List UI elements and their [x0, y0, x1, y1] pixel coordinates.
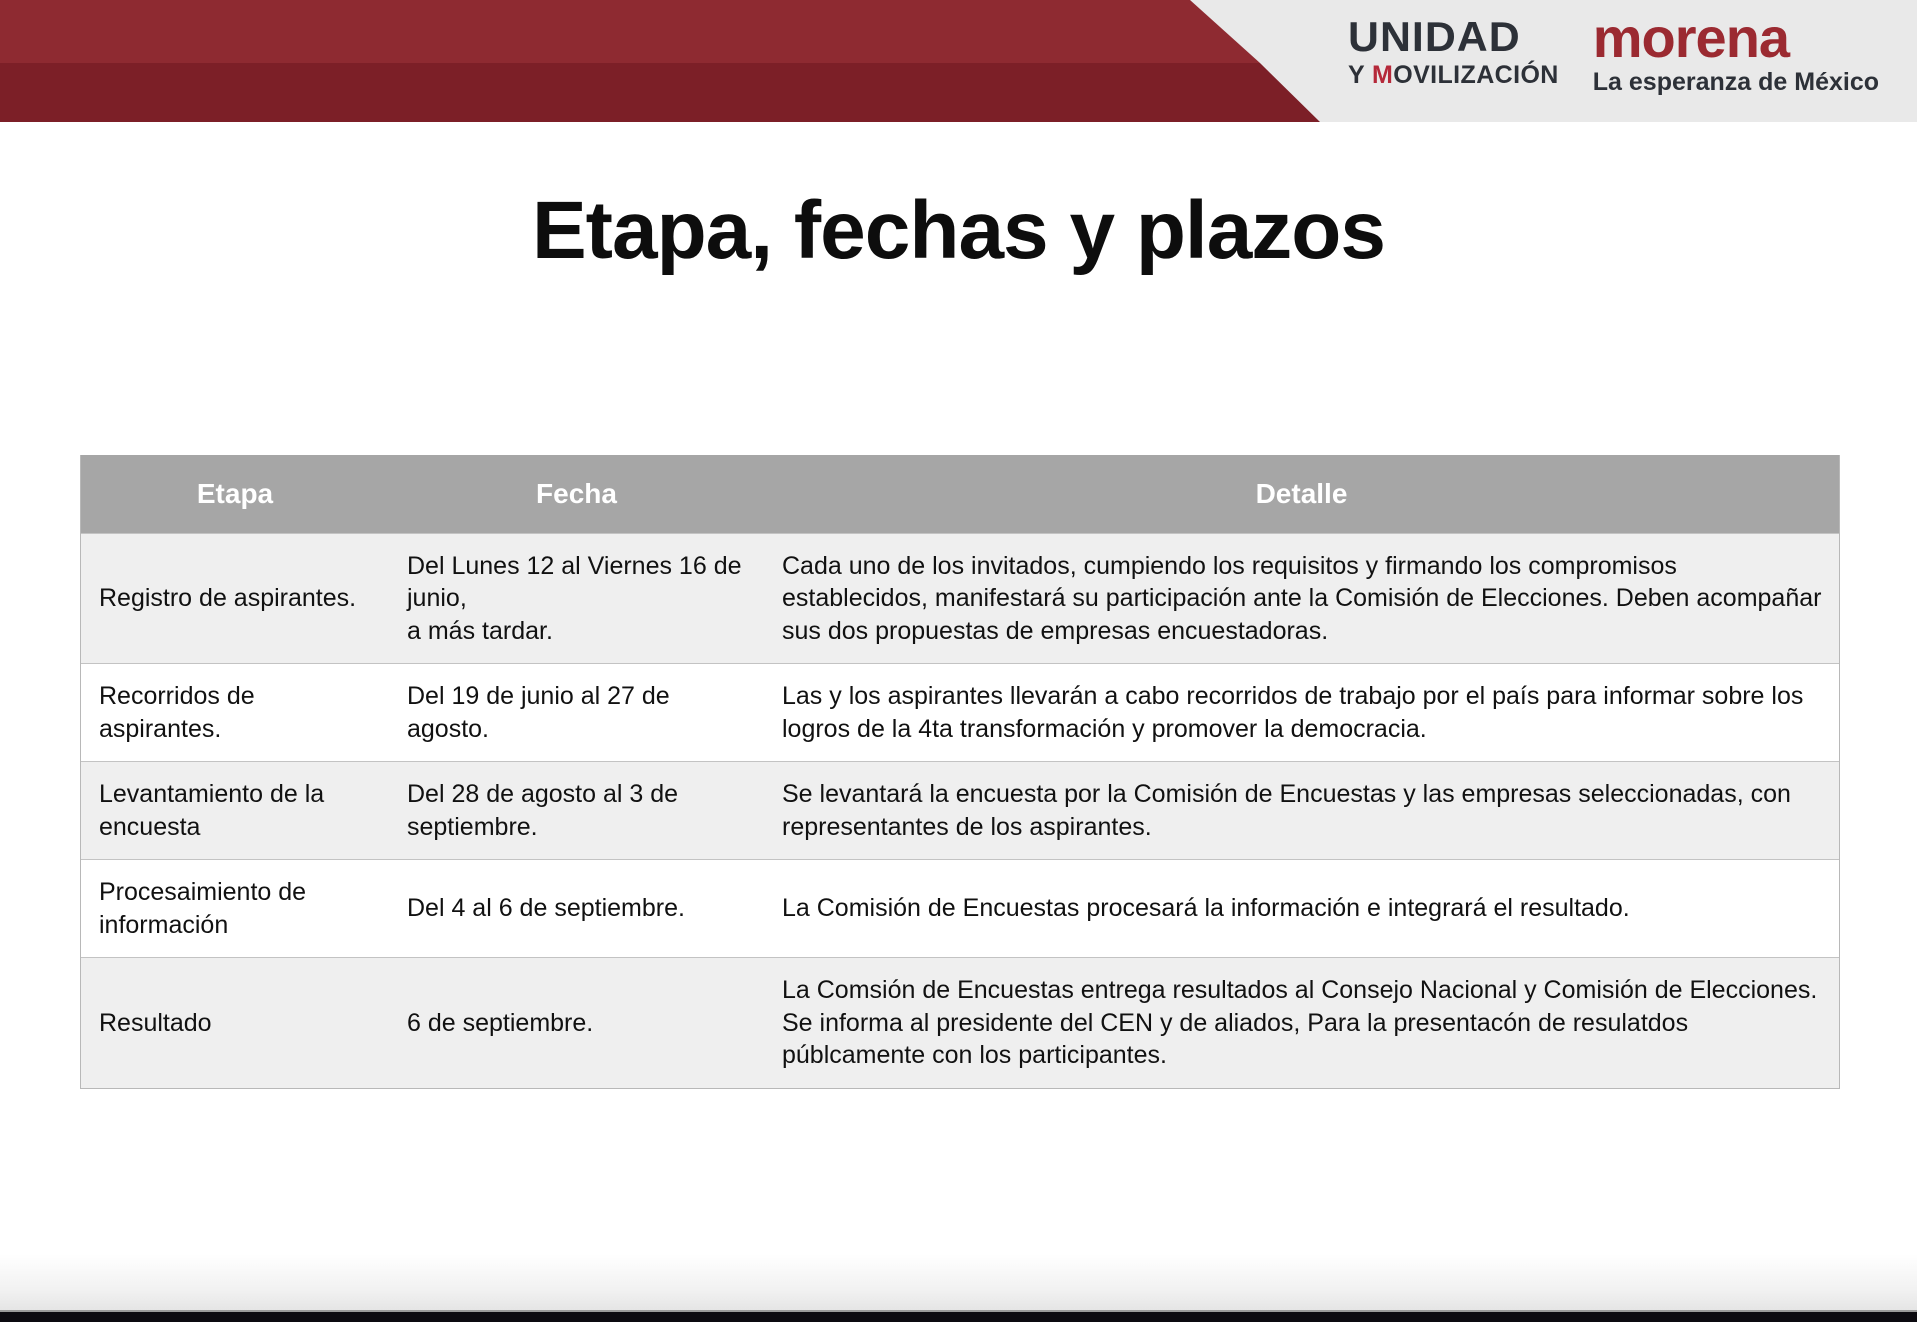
morena-tagline: La esperanza de México	[1593, 70, 1879, 95]
cell-detalle: Cada uno de los invitados, cumpiendo los…	[764, 533, 1839, 664]
slide-bottom-gradient	[0, 1254, 1917, 1312]
table-row: Levantamiento de la encuesta Del 28 de a…	[81, 762, 1839, 860]
table-header-row: Etapa Fecha Detalle	[81, 455, 1839, 533]
table-row: Resultado 6 de septiembre. La Comsión de…	[81, 958, 1839, 1088]
cell-fecha: Del 28 de agosto al 3 de septiembre.	[389, 762, 764, 860]
unidad-logo-line2-prefix: Y	[1348, 61, 1372, 89]
column-header-etapa: Etapa	[81, 455, 389, 533]
schedule-table-body: Registro de aspirantes. Del Lunes 12 al …	[81, 533, 1839, 1088]
schedule-table: Etapa Fecha Detalle Registro de aspirant…	[81, 455, 1839, 1088]
slide-bottom-bar	[0, 1312, 1917, 1322]
unidad-logo-line1: UNIDAD	[1348, 16, 1521, 58]
morena-wordmark: morena	[1593, 10, 1789, 66]
cell-fecha: Del 19 de junio al 27 de agosto.	[389, 664, 764, 762]
unidad-logo-line2-rest: OVILIZACIÓN	[1393, 61, 1559, 89]
schedule-table-container: Etapa Fecha Detalle Registro de aspirant…	[80, 455, 1840, 1089]
header-band-upper	[0, 0, 1260, 63]
cell-etapa: Registro de aspirantes.	[81, 533, 389, 664]
page-title: Etapa, fechas y plazos	[0, 184, 1917, 278]
unidad-logo-line2: Y MOVILIZACIÓN	[1348, 63, 1559, 88]
cell-etapa: Procesaimiento de información	[81, 860, 389, 958]
unidad-movilizacion-logo: UNIDAD Y MOVILIZACIÓN	[1348, 16, 1559, 88]
cell-fecha: 6 de septiembre.	[389, 958, 764, 1088]
table-row: Registro de aspirantes. Del Lunes 12 al …	[81, 533, 1839, 664]
header-band-lower	[0, 63, 1320, 122]
column-header-detalle: Detalle	[764, 455, 1839, 533]
cell-fecha: Del 4 al 6 de septiembre.	[389, 860, 764, 958]
morena-logo: morena La esperanza de México	[1593, 10, 1879, 95]
cell-detalle: Las y los aspirantes llevarán a cabo rec…	[764, 664, 1839, 762]
cell-etapa: Levantamiento de la encuesta	[81, 762, 389, 860]
column-header-fecha: Fecha	[389, 455, 764, 533]
unidad-logo-line2-accent: M	[1372, 61, 1393, 89]
cell-etapa: Recorridos de aspirantes.	[81, 664, 389, 762]
cell-detalle: La Comsión de Encuestas entrega resultad…	[764, 958, 1839, 1088]
table-row: Procesaimiento de información Del 4 al 6…	[81, 860, 1839, 958]
cell-fecha: Del Lunes 12 al Viernes 16 de junio,a má…	[389, 533, 764, 664]
slide-header: UNIDAD Y MOVILIZACIÓN morena La esperanz…	[0, 0, 1917, 122]
slide: UNIDAD Y MOVILIZACIÓN morena La esperanz…	[0, 0, 1917, 1322]
header-logos: UNIDAD Y MOVILIZACIÓN morena La esperanz…	[1348, 0, 1879, 104]
cell-detalle: La Comisión de Encuestas procesará la in…	[764, 860, 1839, 958]
table-row: Recorridos de aspirantes. Del 19 de juni…	[81, 664, 1839, 762]
cell-detalle: Se levantará la encuesta por la Comisión…	[764, 762, 1839, 860]
schedule-table-head: Etapa Fecha Detalle	[81, 455, 1839, 533]
cell-etapa: Resultado	[81, 958, 389, 1088]
